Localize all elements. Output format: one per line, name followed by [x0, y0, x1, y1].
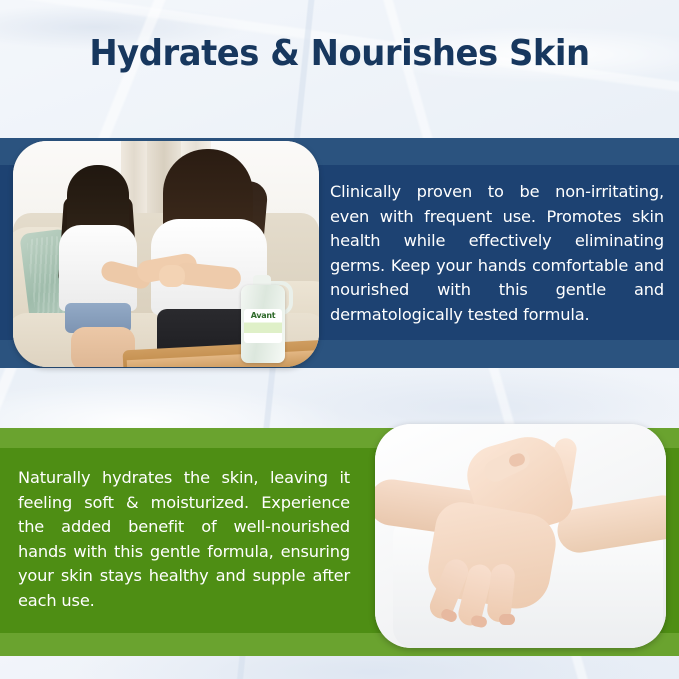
section-clinically-proven-body: Clinically proven to be non-irritating, … [330, 180, 664, 328]
page-title: Hydrates & Nourishes Skin [20, 33, 658, 74]
image-mother-and-daughter-applying-sanitizer: Avant [13, 141, 319, 367]
photo-lower-nail-3 [499, 614, 515, 625]
photo-bottle-brand-name: Avant [244, 311, 282, 320]
section-naturally-hydrates-body: Naturally hydrates the skin, leaving it … [18, 466, 350, 614]
image-hands-rubbing-lotion [375, 424, 666, 648]
infographic-page: Hydrates & Nourishes Skin [0, 0, 679, 679]
photo-mother-hand [159, 265, 185, 287]
